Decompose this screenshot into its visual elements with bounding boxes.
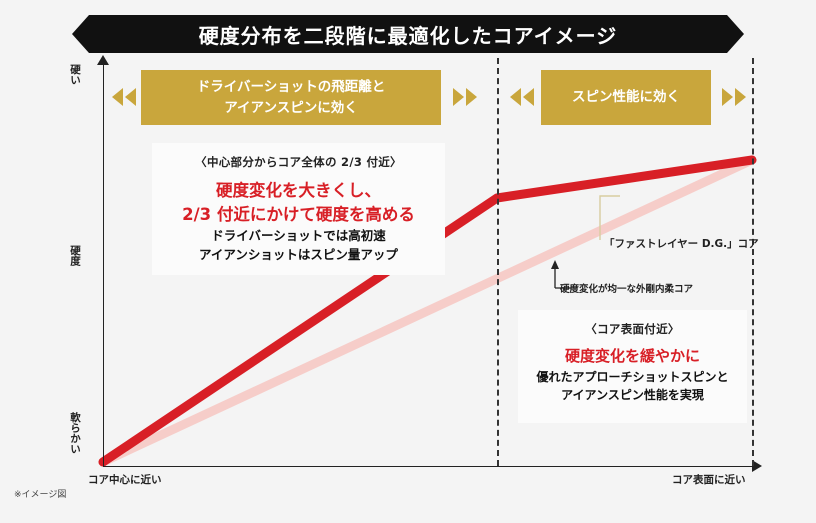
triangle-right-icon [453, 88, 464, 106]
uniform-core-arrowhead-icon [551, 260, 559, 269]
triangle-right-icon [466, 88, 477, 106]
annotation-dg-core: 「ファストレイヤー D.G.」コア [604, 236, 759, 251]
callout-right: 〈コア表面付近〉 硬度変化を緩やかに 優れたアプローチショットスピンと アイアン… [518, 310, 747, 423]
arrows-right-inner [510, 88, 534, 106]
triangle-left-icon [523, 88, 534, 106]
callout-right-red-line1: 硬度変化を緩やかに [518, 337, 747, 368]
callout-left-black-line2: アイアンショットはスピン量アップ [152, 246, 445, 265]
y-axis-arrow-icon [97, 55, 109, 65]
triangle-right-icon [735, 88, 746, 106]
section-header-left-line2: アイアンスピンに効く [197, 98, 385, 118]
footnote: ※イメージ図 [14, 487, 66, 500]
divider-core-surface [752, 58, 754, 466]
arrows-left-outer [112, 88, 136, 106]
callout-left: 〈中心部分からコア全体の 2/3 付近〉 硬度変化を大きくし、 2/3 付近にか… [152, 143, 445, 275]
infographic-root: 硬度分布を二段階に最適化したコアイメージ 硬い 硬度 軟らかい コア中心に近い … [0, 0, 816, 523]
arrows-left-inner [453, 88, 477, 106]
arrows-right-outer [722, 88, 746, 106]
triangle-left-icon [112, 88, 123, 106]
callout-right-black-line2: アイアンスピン性能を実現 [518, 386, 747, 404]
triangle-right-icon [722, 88, 733, 106]
section-header-right: スピン性能に効く [541, 70, 711, 125]
callout-left-black-line1: ドライバーショットでは高初速 [152, 227, 445, 246]
triangle-left-icon [510, 88, 521, 106]
callout-right-bracket: 〈コア表面付近〉 [518, 310, 747, 337]
y-axis-label-soft: 軟らかい [69, 412, 80, 454]
callout-left-red-line1: 硬度変化を大きくし、 [152, 179, 445, 203]
y-axis-line [103, 62, 104, 466]
section-header-left-line1: ドライバーショットの飛距離と [197, 77, 385, 97]
annotation-uniform-core: 硬度変化が均一な外剛内柔コア [560, 281, 693, 295]
y-axis-label-hard: 硬い [69, 64, 80, 85]
divider-two-thirds [497, 58, 499, 466]
triangle-left-icon [125, 88, 136, 106]
x-axis-line [103, 466, 755, 467]
x-axis-label-core-surface: コア表面に近い [672, 472, 746, 487]
callout-right-black-line1: 優れたアプローチショットスピンと [518, 368, 747, 386]
section-header-left: ドライバーショットの飛距離と アイアンスピンに効く [141, 70, 441, 125]
y-axis-label-hardness: 硬度 [69, 245, 80, 266]
x-axis-label-core-center: コア中心に近い [88, 472, 162, 487]
section-header-right-line1: スピン性能に効く [572, 87, 680, 107]
callout-left-red-line2: 2/3 付近にかけて硬度を高める [152, 203, 445, 227]
callout-left-bracket: 〈中心部分からコア全体の 2/3 付近〉 [152, 143, 445, 170]
